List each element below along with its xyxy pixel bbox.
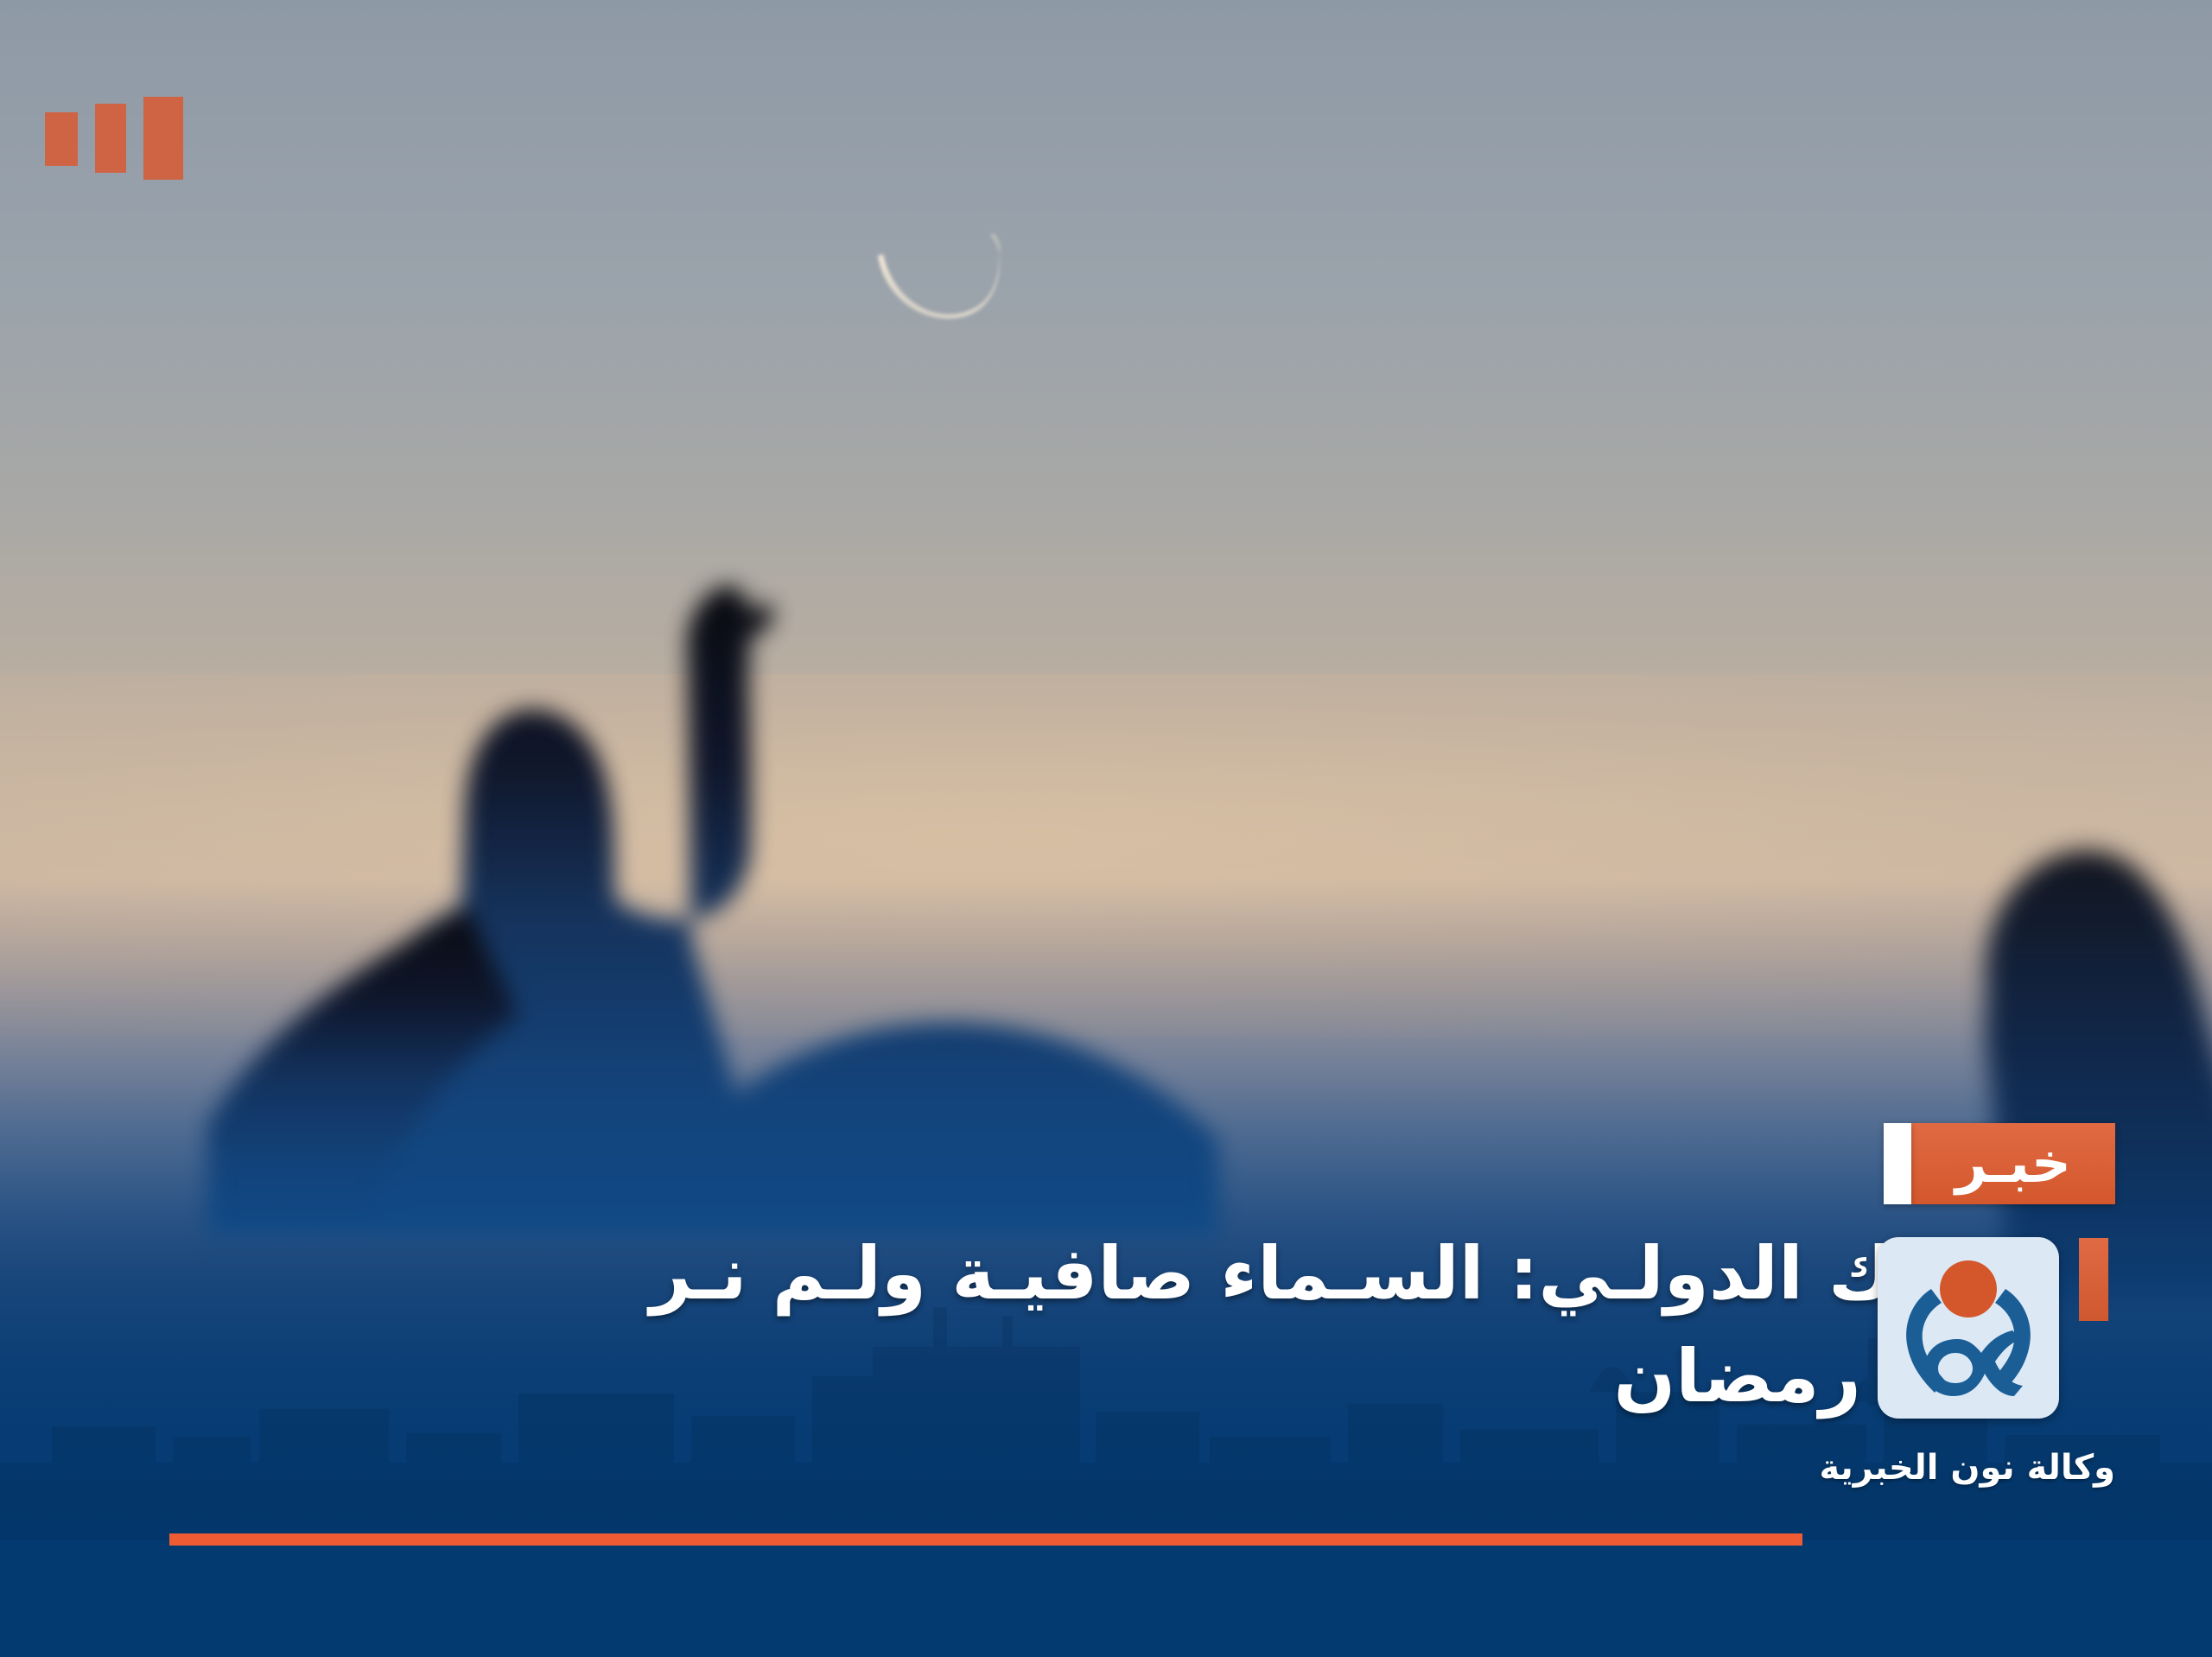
brand-block: خبـر وكالة نون الخبرية bbox=[1821, 1123, 2115, 1488]
badge-white-tick bbox=[1884, 1123, 1911, 1204]
three-bar-mark-icon bbox=[45, 97, 183, 183]
agency-name: وكالة نون الخبرية bbox=[1821, 1448, 2115, 1488]
bar-1 bbox=[143, 97, 183, 180]
bar-2 bbox=[95, 104, 126, 173]
bar-3 bbox=[45, 112, 78, 166]
agency-logo bbox=[1878, 1237, 2059, 1419]
news-card: الفلـك الدولـي: السـماء صافيـة ولـم نـر … bbox=[0, 0, 2212, 1657]
divider-rule bbox=[169, 1533, 1802, 1546]
noon-agency-logo-icon bbox=[1878, 1237, 2059, 1419]
bottom-blue-band bbox=[0, 1540, 2212, 1657]
status-badge-label: خبـر bbox=[1911, 1123, 2115, 1204]
status-badge: خبـر bbox=[1884, 1123, 2115, 1204]
